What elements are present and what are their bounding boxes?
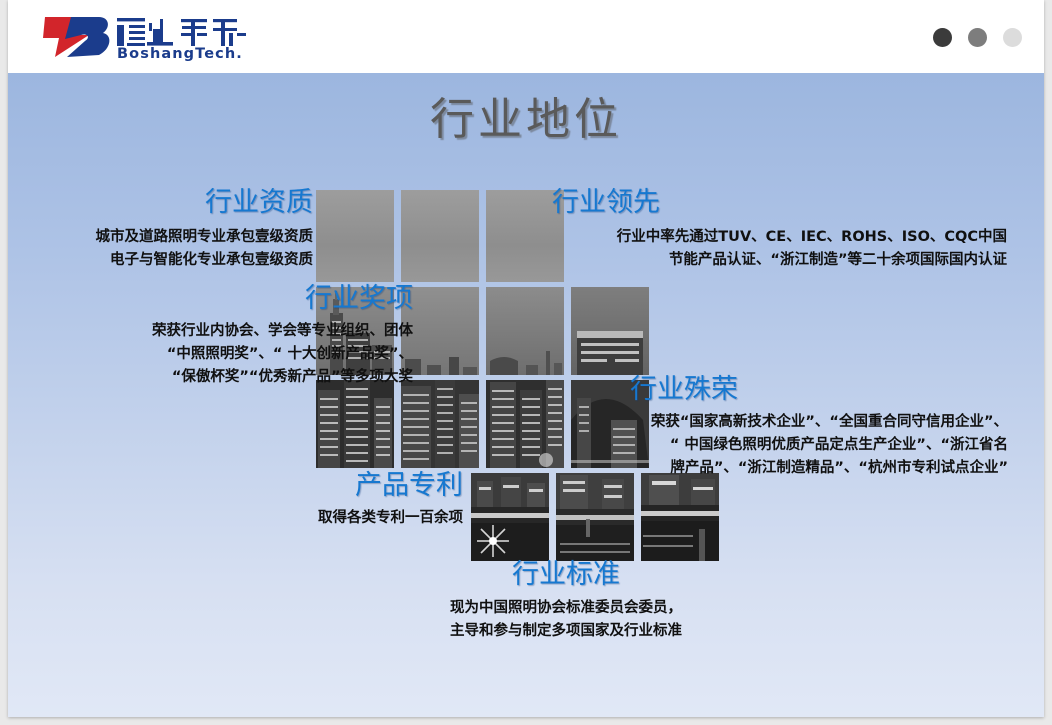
photo-tile [471, 473, 549, 561]
block-awards-heading: 行业奖项 [88, 282, 413, 315]
block-awards-line-3: “保傲杯奖”“优秀新产品”等多项大奖 [88, 366, 413, 389]
photo-tile [571, 287, 649, 375]
slide-header: BoshangTech. [8, 0, 1044, 73]
dot-mid-icon[interactable] [968, 28, 987, 47]
block-qualification: 行业资质 城市及道路照明专业承包壹级资质 电子与智能化专业承包壹级资质 [48, 186, 313, 272]
photo-skyline [486, 287, 564, 375]
logo-latin-text: BoshangTech. [117, 46, 243, 61]
photo-night-street [556, 473, 634, 561]
photo-tile [316, 380, 394, 468]
block-leading-line-1: 行业中率先通过TUV、CE、IEC、ROHS、ISO、CQC中国 [552, 226, 1007, 249]
photo-tile [641, 473, 719, 561]
block-standards-line-1: 现为中国照明协会标准委员会委员， [356, 597, 776, 620]
block-patents-line-1: 取得各类专利一百余项 [208, 507, 463, 530]
slide-body: 行业地位 [8, 73, 1044, 717]
photo-tile [486, 380, 564, 468]
block-leading-heading: 行业领先 [552, 186, 1007, 219]
dot-light-icon[interactable] [1003, 28, 1022, 47]
dot-dark-icon[interactable] [933, 28, 952, 47]
block-qualification-line-2: 电子与智能化专业承包壹级资质 [48, 249, 313, 272]
block-leading: 行业领先 行业中率先通过TUV、CE、IEC、ROHS、ISO、CQC中国 节能… [552, 186, 1007, 272]
company-logo: BoshangTech. [41, 13, 256, 61]
photo-tile [316, 190, 394, 282]
block-honors-body: 荣获“国家高新技术企业”、“全国重合同守信用企业”、 “ 中国绿色照明优质产品定… [568, 411, 1008, 480]
photo-night-street [641, 473, 719, 561]
block-honors-heading: 行业殊荣 [568, 373, 1008, 406]
block-honors-line-1: 荣获“国家高新技术企业”、“全国重合同守信用企业”、 [568, 411, 1008, 434]
block-awards: 行业奖项 荣获行业内协会、学会等专业组织、团体 “中照照明奖”、“ 十大创新产品… [88, 282, 413, 389]
photo-tile [486, 287, 564, 375]
block-awards-body: 荣获行业内协会、学会等专业组织、团体 “中照照明奖”、“ 十大创新产品奖”、 “… [88, 320, 413, 389]
block-leading-line-2: 节能产品认证、“浙江制造”等二十余项国际国内认证 [552, 249, 1007, 272]
block-qualification-line-1: 城市及道路照明专业承包壹级资质 [48, 226, 313, 249]
block-qualification-body: 城市及道路照明专业承包壹级资质 电子与智能化专业承包壹级资质 [48, 226, 313, 272]
photo-highrise [486, 380, 564, 468]
photo-tile [401, 190, 479, 282]
block-awards-line-1: 荣获行业内协会、学会等专业组织、团体 [88, 320, 413, 343]
block-patents: 产品专利 取得各类专利一百余项 [208, 469, 463, 530]
photo-tile [556, 473, 634, 561]
block-honors-line-2: “ 中国绿色照明优质产品定点生产企业”、“浙江省名 [568, 434, 1008, 457]
window-dots [933, 28, 1022, 47]
block-patents-body: 取得各类专利一百余项 [208, 507, 463, 530]
block-standards: 行业标准 现为中国照明协会标准委员会委员， 主导和参与制定多项国家及行业标准 [356, 558, 776, 643]
block-honors-line-3: 牌产品”、“浙江制造精品”、“杭州市专利试点企业” [568, 457, 1008, 480]
photo-building [571, 287, 649, 375]
block-leading-body: 行业中率先通过TUV、CE、IEC、ROHS、ISO、CQC中国 节能产品认证、… [552, 226, 1007, 272]
photo-highrise [401, 380, 479, 468]
logo-svg: BoshangTech. [41, 13, 256, 61]
block-awards-line-2: “中照照明奖”、“ 十大创新产品奖”、 [88, 343, 413, 366]
presentation-slide: BoshangTech. 行业地位 [8, 0, 1044, 717]
block-honors: 行业殊荣 荣获“国家高新技术企业”、“全国重合同守信用企业”、 “ 中国绿色照明… [568, 373, 1008, 480]
block-standards-body: 现为中国照明协会标准委员会委员， 主导和参与制定多项国家及行业标准 [356, 597, 776, 643]
logo-chinese-mark [117, 18, 246, 46]
block-standards-heading: 行业标准 [356, 558, 776, 591]
block-standards-line-2: 主导和参与制定多项国家及行业标准 [356, 620, 776, 643]
photo-tile [401, 380, 479, 468]
block-patents-heading: 产品专利 [208, 469, 463, 502]
photo-night-street [471, 473, 549, 561]
block-qualification-heading: 行业资质 [48, 186, 313, 219]
photo-highrise [316, 380, 394, 468]
